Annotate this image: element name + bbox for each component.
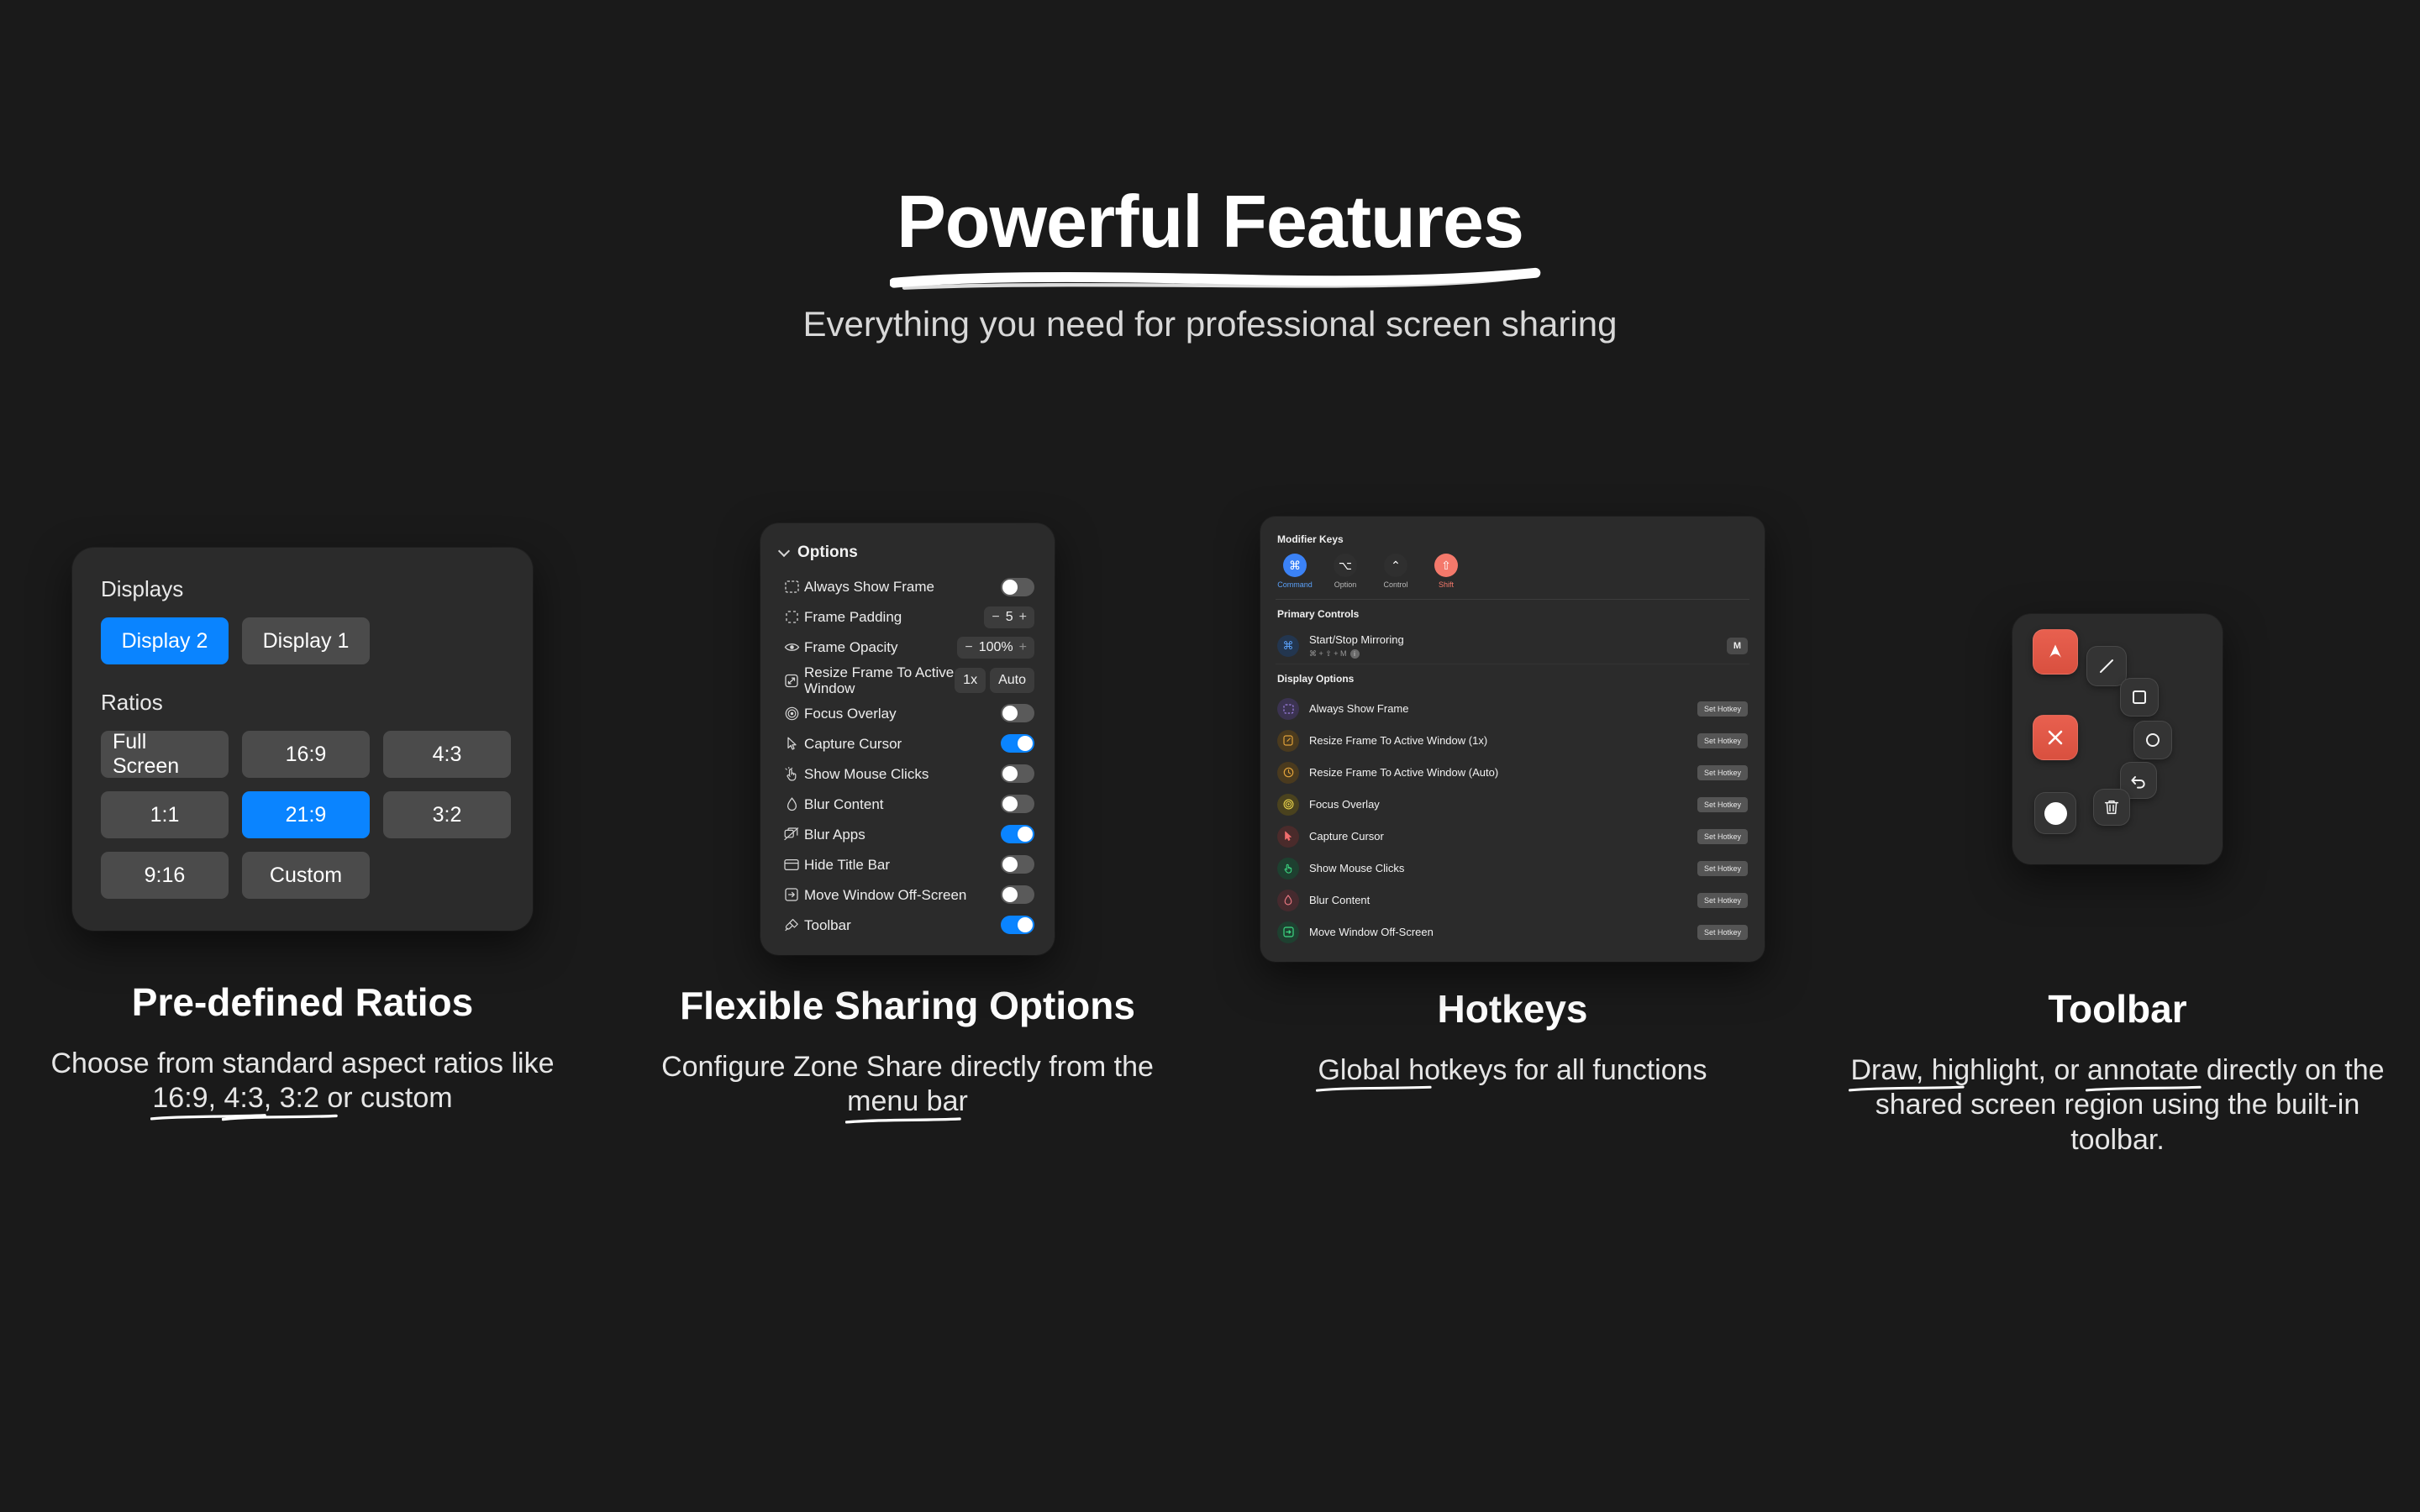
modifier-command[interactable]: ⌘ Command <box>1276 554 1314 589</box>
hotkey-subtitle: ⌘ + ⇧ + Mi <box>1309 649 1727 659</box>
toggle-knob <box>1002 796 1018 811</box>
option-control[interactable] <box>1001 825 1034 843</box>
set-hotkey-button[interactable]: Set Hotkey <box>1697 765 1748 780</box>
hotkey-badge-m[interactable]: M <box>1727 638 1748 654</box>
modifier-keys-section-label: Modifier Keys <box>1277 533 1749 545</box>
dashed-frame-icon <box>779 580 804 593</box>
hotkey-title: Focus Overlay <box>1309 798 1380 811</box>
ratios-screenshot-wrap: Displays Display 2 Display 1 Ratios Full… <box>72 504 533 974</box>
options-caption-body: Configure Zone Share directly from the m… <box>620 1050 1195 1120</box>
toggle-knob <box>1018 917 1033 932</box>
ratios-caption: Pre-defined Ratios Choose from standard … <box>0 974 605 1116</box>
toggle-always-show-frame[interactable] <box>1001 578 1034 596</box>
close-icon <box>2044 727 2066 748</box>
blur-apps-icon <box>779 827 804 841</box>
command-key-icon: ⌘ <box>1283 554 1307 577</box>
ratios-panel: Displays Display 2 Display 1 Ratios Full… <box>72 548 533 931</box>
line-tool-button[interactable] <box>2086 646 2127 686</box>
modifier-label: Option <box>1326 580 1365 589</box>
ratios-chip-grid: Full Screen 16:9 4:3 1:1 21:9 3:2 9:16 C… <box>101 731 504 899</box>
hotkey-row-start-stop-mirroring[interactable]: ⌘ Start/Stop Mirroring ⌘ + ⇧ + Mi M <box>1276 628 1749 663</box>
option-label: Capture Cursor <box>804 736 1001 752</box>
trash-icon <box>2102 798 2121 816</box>
option-row-resize-frame[interactable]: Resize Frame To Active Window 1x Auto <box>774 663 1041 698</box>
option-label: Toolbar <box>804 917 1001 933</box>
toggle-knob <box>1002 887 1018 902</box>
set-hotkey-button[interactable]: Set Hotkey <box>1697 829 1748 844</box>
option-control[interactable] <box>1001 855 1034 874</box>
option-control[interactable] <box>1001 734 1034 753</box>
option-row-show-mouse-clicks[interactable]: Show Mouse Clicks <box>774 759 1041 789</box>
hotkey-texts: Move Window Off-Screen <box>1309 925 1697 940</box>
toolbar-screenshot-wrap <box>2012 504 2223 974</box>
underline-stroke <box>1316 1084 1432 1094</box>
modifier-keys-row: ⌘ Command ⌥ Option ⌃ Control ⇧ <box>1276 554 1749 589</box>
highlight-4-3-3-2: 4:3, 3:2 <box>224 1081 318 1116</box>
set-hotkey-button[interactable]: Set Hotkey <box>1697 797 1748 812</box>
hotkey-title: Show Mouse Clicks <box>1309 862 1404 874</box>
options-header[interactable]: Options <box>779 543 1041 562</box>
toggle-knob <box>1002 580 1018 595</box>
option-control[interactable]: − 5 + <box>984 606 1034 628</box>
title-underline-stroke <box>890 267 1547 296</box>
ratio-button-full-screen[interactable]: Full Screen <box>101 731 229 778</box>
shift-key-icon: ⇧ <box>1434 554 1458 577</box>
hotkey-title: Capture Cursor <box>1309 830 1384 843</box>
option-row-move-window-off-screen[interactable]: Move Window Off-Screen <box>774 879 1041 910</box>
divider <box>1276 599 1749 600</box>
option-control[interactable]: − 100% + <box>957 637 1034 659</box>
highlight-annotate: annotate <box>2087 1053 2198 1088</box>
plus-icon[interactable]: + <box>1019 640 1027 655</box>
toggle-knob <box>1018 827 1033 842</box>
hotkey-row-capture-cursor[interactable]: Capture Cursor Set Hotkey <box>1276 821 1749 853</box>
ratio-button-custom[interactable]: Custom <box>242 852 370 899</box>
option-control[interactable] <box>1001 578 1034 596</box>
underline-stroke <box>845 1116 961 1126</box>
info-icon[interactable]: i <box>1350 649 1360 659</box>
option-key-icon: ⌥ <box>1334 554 1357 577</box>
hotkey-row-blur-content[interactable]: Blur Content Set Hotkey <box>1276 885 1749 916</box>
line-icon <box>2096 656 2117 676</box>
toggle-capture-cursor[interactable] <box>1001 734 1034 753</box>
square-icon <box>2130 688 2149 706</box>
option-label: Blur Content <box>804 796 1001 812</box>
caption-text: Configure Zone Share directly from the <box>661 1051 1154 1083</box>
circle-icon <box>2144 731 2162 749</box>
toggle-blur-apps[interactable] <box>1001 825 1034 843</box>
hotkey-texts: Blur Content <box>1309 893 1697 908</box>
hotkey-title: Blur Content <box>1309 894 1370 906</box>
brush-icon <box>779 918 804 932</box>
options-header-label: Options <box>797 543 858 562</box>
options-screenshot-wrap: Options Always Show Frame <box>760 504 1055 974</box>
highlight-draw-highlight: Draw, highlight <box>1850 1053 2038 1088</box>
dashed-frame-icon <box>1277 698 1299 720</box>
toggle-knob <box>1018 736 1033 751</box>
tap-hand-icon <box>779 767 804 781</box>
divider <box>1276 664 1749 664</box>
toolbar-panel <box>2012 614 2223 864</box>
caption-text-tail: or custom <box>319 1082 453 1114</box>
modifier-label: Control <box>1376 580 1415 589</box>
ratio-button-4-3[interactable]: 4:3 <box>383 731 511 778</box>
option-row-frame-padding[interactable]: Frame Padding − 5 + <box>774 602 1041 633</box>
target-icon <box>779 706 804 721</box>
pen-icon <box>2044 641 2066 663</box>
resize-auto-icon <box>1277 762 1299 784</box>
highlight-16-9: 16:9, <box>152 1081 216 1116</box>
plus-icon[interactable]: + <box>1019 610 1027 625</box>
arrow-out-box-icon <box>779 888 804 901</box>
hotkey-title: Move Window Off-Screen <box>1309 926 1434 938</box>
modifier-option[interactable]: ⌥ Option <box>1326 554 1365 589</box>
chevron-down-icon <box>779 547 790 558</box>
display-button-2[interactable]: Display 2 <box>101 617 229 664</box>
option-control[interactable] <box>1001 795 1034 813</box>
toggle-move-window-off-screen[interactable] <box>1001 885 1034 904</box>
option-label: Frame Opacity <box>804 639 957 655</box>
highlight-menu-bar: menu bar <box>847 1084 968 1119</box>
delete-button[interactable] <box>2093 789 2130 826</box>
modifier-control[interactable]: ⌃ Control <box>1376 554 1415 589</box>
segment-option-auto[interactable]: Auto <box>990 668 1034 693</box>
target-icon <box>1277 794 1299 816</box>
option-row-blur-content[interactable]: Blur Content <box>774 789 1041 819</box>
droplet-icon <box>779 797 804 811</box>
hotkeys-screenshot-wrap: Modifier Keys ⌘ Command ⌥ Option ⌃ Contr <box>1260 504 1765 974</box>
option-control[interactable] <box>1001 916 1034 934</box>
stepper-value: 100% <box>979 640 1013 655</box>
toggle-blur-content[interactable] <box>1001 795 1034 813</box>
segment-option-1x[interactable]: 1x <box>955 668 986 693</box>
stepper-frame-opacity[interactable]: − 100% + <box>957 637 1034 659</box>
set-hotkey-button[interactable]: Set Hotkey <box>1697 861 1748 876</box>
displays-section-label: Displays <box>101 576 504 602</box>
page-title-wrap: Powerful Features <box>897 183 1523 260</box>
options-caption-title: Flexible Sharing Options <box>620 983 1195 1028</box>
eye-icon <box>779 642 804 653</box>
resize-frame-icon <box>1277 730 1299 752</box>
display-button-1[interactable]: Display 1 <box>242 617 370 664</box>
toolbar-caption-title: Toolbar <box>1830 986 2405 1032</box>
hotkeys-panel: Modifier Keys ⌘ Command ⌥ Option ⌃ Contr <box>1260 517 1765 961</box>
option-label: Move Window Off-Screen <box>804 887 1001 903</box>
option-row-capture-cursor[interactable]: Capture Cursor <box>774 728 1041 759</box>
page-header: Powerful Features Everything you need fo… <box>0 0 2420 344</box>
control-key-icon: ⌃ <box>1384 554 1407 577</box>
hotkey-row-focus-overlay[interactable]: Focus Overlay Set Hotkey <box>1276 789 1749 821</box>
ratio-button-3-2[interactable]: 3:2 <box>383 791 511 838</box>
ratio-button-21-9[interactable]: 21:9 <box>242 791 370 838</box>
option-label: Blur Apps <box>804 827 1001 843</box>
arrow-out-box-icon <box>1277 921 1299 943</box>
options-caption: Flexible Sharing Options Configure Zone … <box>605 974 1210 1120</box>
hotkey-row-resize-frame-1x[interactable]: Resize Frame To Active Window (1x) Set H… <box>1276 725 1749 757</box>
minus-icon[interactable]: − <box>992 610 999 625</box>
display-options-section-label: Display Options <box>1277 673 1749 685</box>
page-title: Powerful Features <box>897 183 1523 260</box>
ratios-section-label: Ratios <box>101 690 504 716</box>
toggle-knob <box>1002 766 1018 781</box>
hotkey-texts: Resize Frame To Active Window (1x) <box>1309 733 1697 748</box>
option-label: Show Mouse Clicks <box>804 766 1001 782</box>
hotkey-texts: Show Mouse Clicks <box>1309 861 1697 876</box>
toggle-show-mouse-clicks[interactable] <box>1001 764 1034 783</box>
option-row-focus-overlay[interactable]: Focus Overlay <box>774 698 1041 728</box>
caption-text: , or <box>2038 1054 2087 1086</box>
feature-column-options: Options Always Show Frame <box>605 504 1210 1158</box>
ratio-button-9-16[interactable]: 9:16 <box>101 852 229 899</box>
page-subtitle: Everything you need for professional scr… <box>0 304 2420 344</box>
toggle-knob <box>1002 857 1018 872</box>
set-hotkey-button[interactable]: Set Hotkey <box>1697 925 1748 940</box>
option-row-always-show-frame[interactable]: Always Show Frame <box>774 572 1041 602</box>
underline-stroke <box>222 1113 338 1122</box>
feature-column-toolbar: Toolbar Draw, highlight, or annotate dir… <box>1815 504 2420 1158</box>
underline-stroke <box>1849 1084 1965 1094</box>
close-button[interactable] <box>2033 715 2078 760</box>
highlight-global-hotkeys: Global hotkeys <box>1318 1053 1507 1088</box>
hotkey-title: Resize Frame To Active Window (Auto) <box>1309 766 1498 779</box>
cursor-icon <box>1277 826 1299 848</box>
option-row-toolbar[interactable]: Toolbar <box>774 910 1041 940</box>
hotkey-texts: Always Show Frame <box>1309 701 1697 717</box>
option-row-blur-apps[interactable]: Blur Apps <box>774 819 1041 849</box>
option-control[interactable]: 1x Auto <box>955 668 1034 693</box>
title-bar-icon <box>779 858 804 871</box>
modifier-shift[interactable]: ⇧ Shift <box>1427 554 1465 589</box>
toolbar-caption-body: Draw, highlight, or annotate directly on… <box>1830 1053 2405 1158</box>
feature-showcase-page: Powerful Features Everything you need fo… <box>0 0 2420 1512</box>
feature-column-hotkeys: Modifier Keys ⌘ Command ⌥ Option ⌃ Contr <box>1210 504 1815 1158</box>
hotkeys-caption-body: Global hotkeys for all functions <box>1318 1053 1707 1088</box>
ratio-button-1-1[interactable]: 1:1 <box>101 791 229 838</box>
options-menu-panel: Options Always Show Frame <box>760 523 1055 955</box>
option-label: Frame Padding <box>804 609 984 625</box>
toggle-knob <box>1002 706 1018 721</box>
tap-hand-icon <box>1277 858 1299 879</box>
undo-icon <box>2129 771 2148 790</box>
toggle-hide-title-bar[interactable] <box>1001 855 1034 874</box>
hotkey-row-resize-frame-auto[interactable]: Resize Frame To Active Window (Auto) Set… <box>1276 757 1749 789</box>
hotkey-row-move-window-off-screen[interactable]: Move Window Off-Screen Set Hotkey <box>1276 916 1749 948</box>
frame-padding-icon <box>779 611 804 623</box>
minus-icon[interactable]: − <box>965 640 972 655</box>
set-hotkey-button[interactable]: Set Hotkey <box>1697 733 1748 748</box>
hotkeys-caption: Hotkeys Global hotkeys for all functions <box>1302 974 1722 1088</box>
resize-frame-icon <box>779 674 804 688</box>
hotkey-row-always-show-frame[interactable]: Always Show Frame Set Hotkey <box>1276 693 1749 725</box>
stepper-value: 5 <box>1006 610 1013 625</box>
toggle-focus-overlay[interactable] <box>1001 704 1034 722</box>
hotkey-texts: Capture Cursor <box>1309 829 1697 844</box>
feature-column-ratios: Displays Display 2 Display 1 Ratios Full… <box>0 504 605 1158</box>
stepper-frame-padding[interactable]: − 5 + <box>984 606 1034 628</box>
ellipse-tool-button[interactable] <box>2133 721 2172 759</box>
primary-controls-section-label: Primary Controls <box>1277 608 1749 620</box>
option-row-frame-opacity[interactable]: Frame Opacity − 100% + <box>774 633 1041 663</box>
displays-chip-row: Display 2 Display 1 <box>101 617 504 664</box>
toolbar-caption: Toolbar Draw, highlight, or annotate dir… <box>1815 974 2420 1158</box>
hotkey-texts: Focus Overlay <box>1309 797 1697 812</box>
pen-tool-button[interactable] <box>2033 629 2078 675</box>
hotkey-title: Start/Stop Mirroring <box>1309 633 1727 647</box>
option-label: Focus Overlay <box>804 706 1001 722</box>
rect-tool-button[interactable] <box>2120 678 2159 717</box>
option-label: Hide Title Bar <box>804 857 1001 873</box>
hotkey-texts: Resize Frame To Active Window (Auto) <box>1309 765 1697 780</box>
toggle-toolbar[interactable] <box>1001 916 1034 934</box>
color-swatch-button[interactable] <box>2034 792 2076 834</box>
hotkey-title: Always Show Frame <box>1309 702 1408 715</box>
cursor-icon <box>779 737 804 751</box>
droplet-icon <box>1277 890 1299 911</box>
set-hotkey-button[interactable]: Set Hotkey <box>1697 893 1748 908</box>
ratio-button-16-9[interactable]: 16:9 <box>242 731 370 778</box>
ratios-caption-title: Pre-defined Ratios <box>15 979 590 1025</box>
underline-stroke <box>2086 1084 2202 1094</box>
option-label: Resize Frame To Active Window <box>804 664 955 696</box>
option-control[interactable] <box>1001 885 1034 904</box>
hotkey-title: Resize Frame To Active Window (1x) <box>1309 734 1487 747</box>
modifier-label: Shift <box>1427 580 1465 589</box>
ratios-caption-body: Choose from standard aspect ratios like … <box>15 1047 590 1116</box>
caption-text: Choose from standard aspect ratios like <box>50 1047 554 1079</box>
set-hotkey-button[interactable]: Set Hotkey <box>1697 701 1748 717</box>
color-circle-icon <box>2044 802 2067 825</box>
option-label: Always Show Frame <box>804 579 1001 595</box>
caption-space <box>216 1082 224 1114</box>
option-control[interactable] <box>1001 764 1034 783</box>
command-icon: ⌘ <box>1277 635 1299 657</box>
hotkey-row-show-mouse-clicks[interactable]: Show Mouse Clicks Set Hotkey <box>1276 853 1749 885</box>
hotkeys-caption-title: Hotkeys <box>1318 986 1707 1032</box>
modifier-label: Command <box>1276 580 1314 589</box>
segment-resize-frame[interactable]: 1x Auto <box>955 668 1034 693</box>
option-row-hide-title-bar[interactable]: Hide Title Bar <box>774 849 1041 879</box>
caption-text: for all functions <box>1507 1054 1707 1086</box>
option-control[interactable] <box>1001 704 1034 722</box>
feature-card-grid: Displays Display 2 Display 1 Ratios Full… <box>0 504 2420 1158</box>
hotkey-texts: Start/Stop Mirroring ⌘ + ⇧ + Mi <box>1309 633 1727 658</box>
